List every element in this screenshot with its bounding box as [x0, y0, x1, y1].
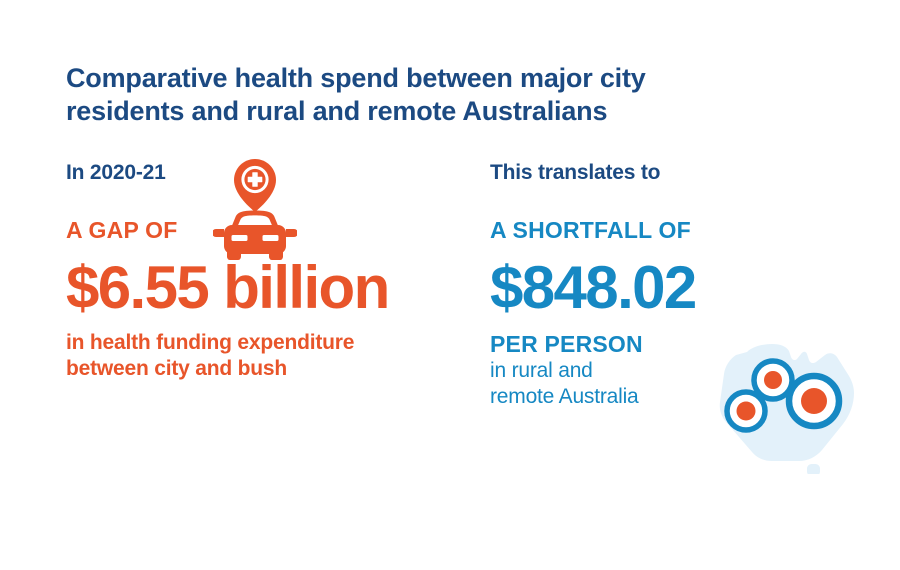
- left-stat-description: in health funding expenditure between ci…: [66, 330, 476, 382]
- right-kicker: This translates to: [490, 160, 850, 186]
- tasmania-shape: [807, 464, 820, 474]
- left-stat-amount: $6.55 billion: [66, 256, 476, 320]
- page-title: Comparative health spend between major c…: [66, 62, 826, 128]
- medical-pin-icon: [234, 159, 276, 211]
- right-stat-amount: $848.02: [490, 256, 850, 320]
- car-with-medical-pin-icon: [213, 157, 297, 261]
- map-marker-north: [754, 361, 792, 399]
- title-line-2: residents and rural and remote Australia…: [66, 95, 826, 128]
- left-description-line-1: in health funding expenditure: [66, 330, 476, 356]
- right-stat-label: A SHORTFALL OF: [490, 216, 850, 244]
- map-marker-west: [727, 392, 765, 430]
- car-body-icon: [213, 211, 297, 261]
- australia-map-icon: [706, 338, 866, 474]
- left-description-line-2: between city and bush: [66, 356, 476, 382]
- map-marker-east: [789, 376, 839, 426]
- title-line-1: Comparative health spend between major c…: [66, 62, 826, 95]
- infographic-canvas: Comparative health spend between major c…: [0, 0, 900, 570]
